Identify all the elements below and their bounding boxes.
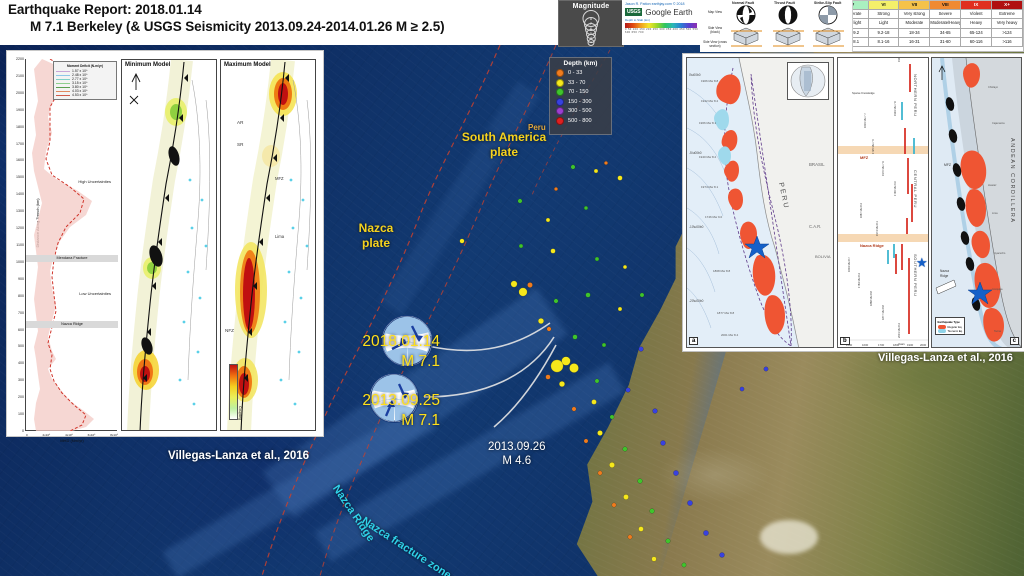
panel-a-label: a	[689, 337, 698, 345]
profile-xtick-1: 2x10⁵	[43, 433, 51, 437]
minimum-model-graphic	[122, 60, 217, 431]
profile-ytick-1: 2100	[16, 74, 24, 78]
profile-ytick-16: 600	[18, 328, 24, 332]
profile-annotation-high: High Uncertainties	[78, 179, 111, 184]
panel-maximum-model: Maximum Model	[220, 59, 316, 431]
profile-xtick-0: 0	[26, 433, 28, 437]
intensity-cell-r1-c8: Extreme	[992, 10, 1023, 19]
moment-deficit-legend-label-6: 4.53 x 10⁹	[72, 93, 87, 97]
intensity-cell-r2-c7: Heavy	[961, 19, 992, 28]
depth-label-150-300: 150 - 300	[568, 99, 592, 105]
figure-right-caption: Villegas-Lanza et al., 2016	[878, 352, 1013, 364]
moment-deficit-legend-swatch-6	[56, 95, 70, 96]
depth-legend-item-2: 70 - 150	[553, 88, 608, 96]
panel-minimum-model: Minimum Model	[121, 59, 217, 431]
report-title: Earthquake Report: 2018.01.14 M 7.1 Berk…	[8, 2, 648, 35]
svg-text:1942 Mw 8.2: 1942 Mw 8.2	[701, 99, 719, 103]
fmkey-diagrams	[700, 0, 852, 52]
svg-text:-20\u00b0: -20\u00b0	[689, 299, 704, 303]
svg-text:2000: 2000	[920, 343, 927, 347]
depth-legend: Depth (km) 0 - 33 33 - 70 70 - 150 150 -…	[549, 57, 612, 135]
moment-deficit-legend-swatch-4	[56, 87, 70, 88]
intensity-cell-r4-c4: 8.1-16	[869, 38, 900, 47]
annotation-event-2018-mag: M 7.1	[320, 352, 440, 372]
svg-text:1687 Mw 8.4: 1687 Mw 8.4	[859, 203, 863, 218]
svg-text:1906 Mw 8.8: 1906 Mw 8.8	[897, 58, 901, 62]
intensity-cell-r3-c4: 9.2-18	[869, 29, 900, 38]
intensity-cell-r3-c6: 34-65	[930, 29, 961, 38]
svg-text:1940 Mw 8.2: 1940 Mw 8.2	[699, 155, 717, 159]
panel-c-legend: Earthquake Type Regular Eq. Tsunami Eq.	[935, 317, 965, 335]
intensity-cell-r3-c7: 65-124	[961, 29, 992, 38]
intensity-cell-r3-c8: >124	[992, 29, 1023, 38]
panel-a-inset-graphic	[788, 63, 828, 99]
profile-ytick-12: 1000	[16, 260, 24, 264]
depth-legend-item-1: 33 - 70	[553, 79, 608, 87]
moment-deficit-legend-row-6: 4.53 x 10⁹	[56, 93, 114, 97]
panel-c-label: c	[1010, 337, 1019, 345]
profile-yaxis: 2200210020001900180017001600150014001300…	[10, 59, 25, 431]
panel-b-label: b	[840, 337, 850, 345]
moment-deficit-legend-swatch-0	[56, 71, 70, 72]
svg-text:-5\u00b0: -5\u00b0	[689, 151, 702, 155]
profile-band-nazca-ridge: Nazca Ridge	[26, 321, 118, 328]
svg-text:SR: SR	[237, 142, 244, 147]
profile-ytick-6: 1600	[16, 158, 24, 162]
magnitude-circle-3: 3	[588, 39, 595, 46]
annotation-event-2013-09-25: 2013.09.25 M 7.1	[312, 391, 440, 431]
intensity-cell-r0-c5: VII	[899, 1, 930, 10]
profile-ytick-22: 0	[22, 429, 24, 433]
intensity-cell-r1-c5: Very strong	[899, 10, 930, 19]
profile-band-mendana: Mendana Fracture	[26, 255, 118, 262]
profile-ytick-5: 1700	[16, 142, 24, 146]
depth-swatch-33-70	[556, 79, 564, 87]
svg-text:BRASIL: BRASIL	[809, 162, 825, 167]
depth-swatch-500-800	[556, 117, 564, 125]
svg-text:2001 Mw 8.4: 2001 Mw 8.4	[897, 323, 901, 338]
depth-swatch-70-150	[556, 88, 564, 96]
annotation-event-0926-date: 2013.09.26	[488, 440, 546, 454]
svg-text:1746 Mw 9.0: 1746 Mw 9.0	[705, 215, 723, 219]
panel-minimum-model-title: Minimum Model	[125, 62, 170, 68]
depth-label-0-33: 0 - 33	[568, 70, 582, 76]
moment-deficit-legend-swatch-2	[56, 79, 70, 80]
svg-text:1619 Mw 7.7: 1619 Mw 7.7	[863, 113, 867, 128]
panel-b-xlabel: Years	[898, 343, 905, 346]
intensity-cell-r1-c7: Violent	[961, 10, 992, 19]
moment-deficit-profile: Distance Along Trench (km) 2200210020001…	[25, 59, 117, 431]
svg-text:BOLIVIA: BOLIVIA	[815, 254, 831, 259]
svg-text:2001 Mw 8.4: 2001 Mw 8.4	[721, 333, 739, 337]
annotation-event-2013-mag: M 7.1	[312, 411, 440, 431]
moment-deficit-legend-swatch-3	[56, 83, 70, 84]
intensity-cell-r0-c7: IX	[961, 1, 992, 10]
svg-text:AR: AR	[237, 120, 244, 125]
panel-c-rupture-map: MFZ Nazca Ridge NFZ ChiclayoCajamarca Hu…	[931, 57, 1022, 348]
annotation-event-2018: 2018.01.14 M 7.1	[320, 332, 440, 372]
depth-legend-item-5: 500 - 800	[553, 117, 608, 125]
svg-text:1700: 1700	[878, 343, 885, 347]
svg-text:Ridge: Ridge	[940, 274, 949, 278]
intensity-cell-r4-c8: >116	[992, 38, 1023, 47]
svg-text:1600: 1600	[862, 343, 869, 347]
figure-left-inner: Distance Along Trench (km) 2200210020001…	[9, 53, 321, 434]
moment-deficit-legend-swatch-1	[56, 75, 70, 76]
svg-text:1877 Mw 8.8: 1877 Mw 8.8	[717, 311, 735, 315]
profile-ytick-10: 1200	[16, 226, 24, 230]
profile-ytick-20: 200	[18, 395, 24, 399]
svg-text:1868 Mw 8.8: 1868 Mw 8.8	[713, 269, 731, 273]
figure-left-coupling-models: Distance Along Trench (km) 2200210020001…	[6, 50, 324, 437]
svg-text:MFZ: MFZ	[944, 163, 951, 167]
svg-text:Tacna: Tacna	[994, 329, 1001, 333]
annotation-event-2013-09-26: 2013.09.26 M 4.6	[488, 440, 546, 468]
depth-legend-title: Depth (km)	[553, 60, 608, 67]
google-earth-label: Google Earth	[645, 8, 692, 17]
panel-b-graphic: 1906 Mw 8.8 1933 Mw 7.6 1619 Mw 7.7 1725…	[838, 58, 929, 348]
svg-text:-10\u00b0: -10\u00b0	[689, 225, 704, 229]
svg-text:1970 Mw 7.9: 1970 Mw 7.9	[881, 161, 885, 176]
svg-text:1900: 1900	[907, 343, 914, 347]
depth-label-500-800: 500 - 800	[568, 118, 592, 124]
profile-xlabel: MHD (Nm/yr)	[26, 438, 118, 443]
intensity-cell-r2-c6: Moderate/Heavy	[930, 19, 961, 28]
svg-text:0\u00b0: 0\u00b0	[689, 73, 701, 77]
svg-text:1746 Mw 9.0: 1746 Mw 9.0	[893, 181, 897, 196]
profile-ytick-2: 2000	[16, 91, 24, 95]
panel-c-swatch-regular	[938, 325, 946, 329]
panel-c-legend-row-tsunami: Tsunami Eq.	[938, 329, 963, 333]
figure-right-historic-ruptures: PERU COLOMBIA BRASIL C.A.R. BOLIVIA 1906…	[682, 53, 1024, 352]
label-nazca-plate-line2: plate	[347, 236, 405, 251]
moment-deficit-legend-title: Moment Deficit (N-m/yr)	[56, 64, 114, 68]
depth-label-33-70: 33 - 70	[568, 80, 585, 86]
label-nazca-plate: Nazca plate	[347, 221, 405, 251]
coupling-colorbar-label: Coupling	[238, 406, 242, 420]
coupling-colorbar	[229, 364, 238, 420]
svg-text:Huaraz: Huaraz	[988, 183, 997, 187]
profile-ytick-3: 1900	[16, 108, 24, 112]
label-sam-line1: South America	[452, 130, 556, 145]
svg-text:1906 Mw 8.8: 1906 Mw 8.8	[701, 79, 719, 83]
svg-text:Chiclayo: Chiclayo	[988, 85, 999, 89]
panel-c-legend-label-tsunami: Tsunami Eq.	[948, 329, 963, 333]
annotation-event-0926-mag: M 4.6	[488, 454, 546, 468]
label-nazca-plate-line1: Nazca	[347, 221, 405, 236]
profile-ytick-17: 500	[18, 344, 24, 348]
panel-b-space-time: MFZ Nazca Ridge NORTHERN PERU CENTRAL PE…	[837, 57, 929, 348]
svg-text:C.A.R.: C.A.R.	[809, 224, 821, 229]
depth-label-70-150: 70 - 150	[568, 89, 589, 95]
profile-ytick-8: 1400	[16, 192, 24, 196]
svg-text:1933 Mw 7.6: 1933 Mw 7.6	[893, 101, 897, 116]
profile-ytick-9: 1300	[16, 209, 24, 213]
panel-a-inset-map	[787, 62, 829, 100]
depth-swatch-0-33	[556, 69, 564, 77]
depth-swatch-300-500	[556, 107, 564, 115]
svg-text:NFZ: NFZ	[225, 328, 234, 333]
intensity-cell-r1-c6: Severe	[930, 10, 961, 19]
profile-xtick-3: 6x10⁵	[88, 433, 96, 437]
moment-deficit-legend-swatch-5	[56, 91, 70, 92]
intensity-cell-r1-c4: Strong	[869, 10, 900, 19]
report-title-line2: M 7.1 Berkeley (& USGS Seismicity 2013.0…	[8, 18, 648, 35]
panel-a-graphic: PERU COLOMBIA BRASIL C.A.R. BOLIVIA 1906…	[687, 58, 834, 348]
svg-text:1725 Mw 7.5: 1725 Mw 7.5	[871, 139, 875, 154]
moment-deficit-legend: Moment Deficit (N-m/yr) 1.57 x 10⁹2.48 x…	[53, 61, 117, 100]
depth-legend-item-4: 300 - 500	[553, 107, 608, 115]
figure-left-caption: Villegas-Lanza et al., 2016	[168, 450, 309, 462]
focal-mechanism-key: Normal Fault Thrust Fault Strike-Slip Fa…	[700, 0, 853, 52]
profile-curve	[26, 59, 118, 431]
profile-ytick-15: 700	[18, 311, 24, 315]
profile-ytick-0: 2200	[16, 57, 24, 61]
svg-text:Cajamarca: Cajamarca	[992, 121, 1005, 125]
intensity-cell-r0-c6: VIII	[930, 1, 961, 10]
intensity-cell-r0-c8: X+	[992, 1, 1023, 10]
panel-b-epicenter-star: ★	[916, 256, 928, 269]
panel-c-cordillera-label: ANDEAN CORDILLERA	[1009, 138, 1015, 224]
label-south-america-plate: South America plate	[452, 130, 556, 160]
report-title-line1: Earthquake Report: 2018.01.14	[8, 2, 648, 18]
earthquake-report-screenshot: Nazca plate South America plate Peru Naz…	[0, 0, 1024, 576]
depth-label-300-500: 300 - 500	[568, 108, 592, 114]
profile-xtick-4: 8x10⁵	[110, 433, 118, 437]
panel-a-peru-map: PERU COLOMBIA BRASIL C.A.R. BOLIVIA 1906…	[686, 57, 834, 348]
label-sam-line2: plate	[452, 145, 556, 160]
svg-text:Nazca: Nazca	[940, 269, 949, 273]
profile-xticks: 02x10⁵4x10⁵6x10⁵8x10⁵	[26, 433, 118, 437]
profile-ytick-13: 900	[18, 277, 24, 281]
svg-text:MFZ: MFZ	[275, 176, 284, 181]
profile-ytick-4: 1800	[16, 125, 24, 129]
svg-text:1974 Mw 8.1: 1974 Mw 8.1	[875, 221, 879, 236]
annotation-event-2018-date: 2018.01.14	[320, 332, 440, 352]
svg-text:Lima: Lima	[992, 211, 998, 215]
profile-ytick-18: 400	[18, 361, 24, 365]
intensity-cell-r4-c6: 31-60	[930, 38, 961, 47]
profile-ytick-14: 800	[18, 294, 24, 298]
label-peru: Peru	[528, 123, 546, 132]
profile-ytick-21: 100	[18, 412, 24, 416]
panel-c-swatch-tsunami	[938, 329, 946, 333]
intensity-cell-r4-c7: 60-116	[961, 38, 992, 47]
panel-maximum-model-title: Maximum Model	[224, 62, 271, 68]
svg-text:1868 Mw 8.8: 1868 Mw 8.8	[869, 291, 873, 306]
profile-ytick-7: 1500	[16, 175, 24, 179]
svg-text:Ayacucho: Ayacucho	[994, 251, 1006, 255]
annotation-event-2013-date: 2013.09.25	[312, 391, 440, 411]
moment-deficit-legend-rows: 1.57 x 10⁹2.48 x 10⁹2.77 x 10⁹3.15 x 10⁹…	[56, 69, 114, 97]
depth-legend-item-0: 0 - 33	[553, 69, 608, 77]
intensity-cell-r2-c8: Very heavy	[992, 19, 1023, 28]
svg-text:Arequipa: Arequipa	[992, 287, 1003, 291]
intensity-cell-r4-c5: 16-31	[899, 38, 930, 47]
depth-swatch-150-300	[556, 98, 564, 106]
profile-xtick-2: 4x10⁵	[65, 433, 73, 437]
intensity-cell-r2-c5: Moderate	[899, 19, 930, 28]
svg-text:1784 Mw 8.4: 1784 Mw 8.4	[857, 273, 861, 288]
svg-text:1604 Mw 8.7: 1604 Mw 8.7	[847, 257, 851, 272]
profile-annotation-low: Low Uncertainties	[79, 291, 111, 296]
profile-ytick-11: 1100	[16, 243, 24, 247]
depth-legend-item-3: 150 - 300	[553, 98, 608, 106]
intensity-cell-r3-c5: 18-34	[899, 29, 930, 38]
intensity-cell-r0-c4: VI	[869, 1, 900, 10]
panel-c-legend-title: Earthquake Type	[938, 320, 963, 324]
svg-text:1877 Mw 8.8: 1877 Mw 8.8	[881, 305, 885, 320]
svg-text:1966 Mw 8.1: 1966 Mw 8.1	[699, 121, 717, 125]
svg-text:1974 Mw 8.1: 1974 Mw 8.1	[701, 185, 719, 189]
svg-text:Lima: Lima	[275, 234, 285, 239]
profile-ytick-19: 300	[18, 378, 24, 382]
intensity-cell-r2-c4: Light	[869, 19, 900, 28]
